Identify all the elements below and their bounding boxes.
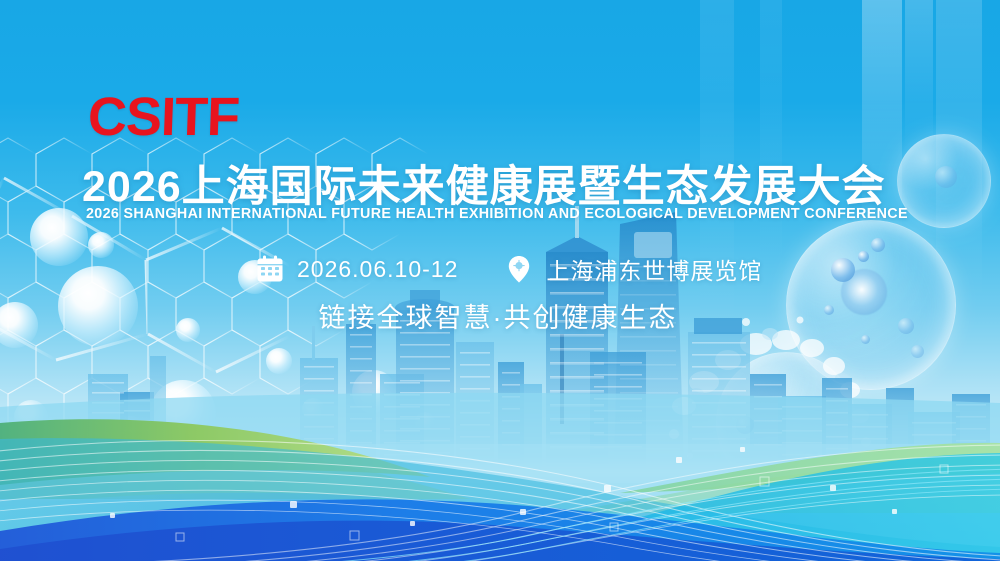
event-date-text: 2026.06.10-12 (297, 256, 458, 283)
event-venue: 上海浦东世博展览馆 (504, 252, 762, 286)
page-title: 2026上海国际未来健康展暨生态发展大会 (82, 152, 942, 214)
decor-light-bar-2 (905, 0, 933, 150)
wave-graphic (0, 381, 1000, 561)
event-poster: CSITF 2026上海国际未来健康展暨生态发展大会 2026 SHANGHAI… (0, 0, 1000, 561)
location-pin-icon (504, 254, 534, 284)
event-date: 2026.06.10-12 (255, 254, 458, 284)
event-venue-text: 上海浦东世博展览馆 (546, 252, 762, 286)
event-meta-row: 2026.06.10-12 上海浦东世博展览馆 (255, 252, 762, 286)
csitf-logo: CSITF (87, 86, 240, 148)
event-slogan: 链接全球智慧·共创健康生态 (0, 296, 998, 335)
page-subtitle: 2026 SHANGHAI INTERNATIONAL FUTURE HEALT… (86, 206, 946, 222)
calendar-icon (255, 254, 285, 284)
